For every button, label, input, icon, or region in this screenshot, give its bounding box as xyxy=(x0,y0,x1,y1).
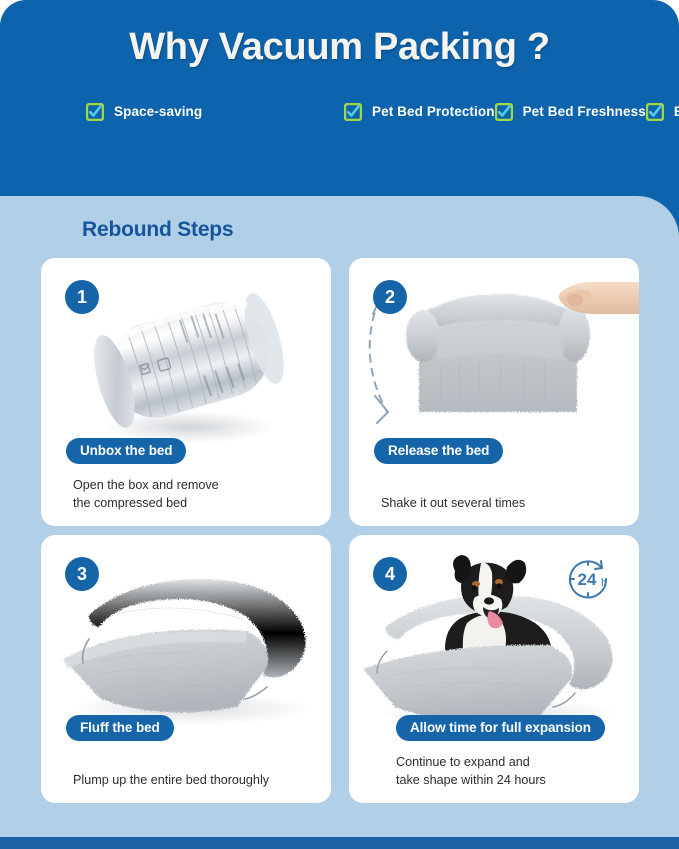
benefit-label: Easier Handling xyxy=(674,104,679,119)
page-title: Why Vacuum Packing ? xyxy=(0,26,679,69)
step-number-badge: 1 xyxy=(65,280,99,314)
benefits-list: Space-saving Pet Bed Protection xyxy=(86,97,646,126)
checkbox-checked-icon xyxy=(495,103,513,121)
benefit-label: Pet Bed Protection xyxy=(372,104,495,119)
step-number-badge: 4 xyxy=(373,557,407,591)
section-title: Rebound Steps xyxy=(82,218,233,242)
step-caption: Open the box and remove the compressed b… xyxy=(73,477,323,512)
dashed-double-arrow-icon xyxy=(370,298,395,423)
step-card-2[interactable]: 2 xyxy=(349,258,639,526)
benefit-item: Pet Bed Freshness xyxy=(495,97,646,126)
step-pill-label: Fluff the bed xyxy=(66,715,174,741)
clock-hours-unit: h xyxy=(601,577,607,589)
infographic-page: Why Vacuum Packing ? Space-saving xyxy=(0,0,679,849)
step-caption: Continue to expand and take shape within… xyxy=(396,754,639,789)
step-caption: Shake it out several times xyxy=(381,495,631,512)
step-number-badge: 3 xyxy=(65,557,99,591)
checkbox-checked-icon xyxy=(86,103,104,121)
benefit-label: Space-saving xyxy=(114,104,202,119)
step-card-3[interactable]: 3 xyxy=(41,535,331,803)
step-caption: Plump up the entire bed thoroughly xyxy=(73,772,323,789)
benefit-item: Pet Bed Protection xyxy=(344,97,495,126)
step-pill-label: Unbox the bed xyxy=(66,438,186,464)
bottom-accent-bar xyxy=(0,837,679,849)
benefit-item: Easier Handling xyxy=(646,97,679,126)
step-card-1[interactable]: 1 xyxy=(41,258,331,526)
checkbox-checked-icon xyxy=(646,103,664,121)
24h-clock-icon: 24 h xyxy=(561,557,617,609)
benefit-label: Pet Bed Freshness xyxy=(523,104,646,119)
step-card-4[interactable]: 4 24 h xyxy=(349,535,639,803)
step-pill-label: Release the bed xyxy=(374,438,503,464)
checkbox-checked-icon xyxy=(344,103,362,121)
clock-hours-value: 24 xyxy=(578,570,597,589)
step-number-badge: 2 xyxy=(373,280,407,314)
benefit-item: Space-saving xyxy=(86,97,344,126)
step-pill-label: Allow time for full expansion xyxy=(396,715,605,741)
steps-grid: 1 xyxy=(41,258,639,803)
